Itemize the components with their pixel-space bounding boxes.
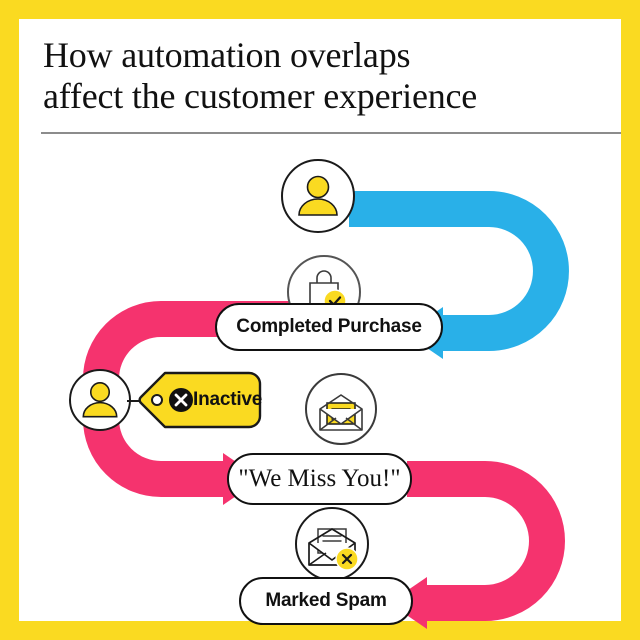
node-completed-purchase[interactable]: Completed Purchase bbox=[215, 303, 443, 351]
customer-avatar bbox=[281, 159, 355, 233]
user-avatar-small-icon bbox=[78, 378, 122, 422]
inactive-tag[interactable]: Inactive bbox=[137, 371, 263, 429]
x-circle-icon bbox=[169, 388, 193, 412]
spam-envelope-badge bbox=[295, 507, 369, 581]
infographic-canvas: How automation overlaps affect the custo… bbox=[0, 0, 640, 640]
node-we-miss-you[interactable]: "We Miss You!" bbox=[227, 453, 412, 505]
envelope-x-icon bbox=[303, 517, 361, 571]
page-title: How automation overlaps affect the custo… bbox=[43, 35, 603, 117]
node-we-miss-you-label: "We Miss You!" bbox=[238, 465, 400, 493]
pink-flow-lower-ribbon bbox=[389, 479, 547, 629]
inactive-tag-label: Inactive bbox=[193, 371, 262, 429]
open-envelope-badge bbox=[305, 373, 377, 445]
node-marked-spam-label: Marked Spam bbox=[265, 590, 386, 612]
white-panel: How automation overlaps affect the custo… bbox=[19, 19, 621, 621]
node-completed-purchase-label: Completed Purchase bbox=[236, 316, 421, 338]
inactive-user-avatar bbox=[69, 369, 131, 431]
node-marked-spam[interactable]: Marked Spam bbox=[239, 577, 413, 625]
header: How automation overlaps affect the custo… bbox=[19, 19, 621, 133]
diagram-stage: Completed Purchase bbox=[19, 133, 621, 621]
user-avatar-icon bbox=[293, 171, 343, 221]
open-envelope-icon bbox=[313, 383, 369, 435]
